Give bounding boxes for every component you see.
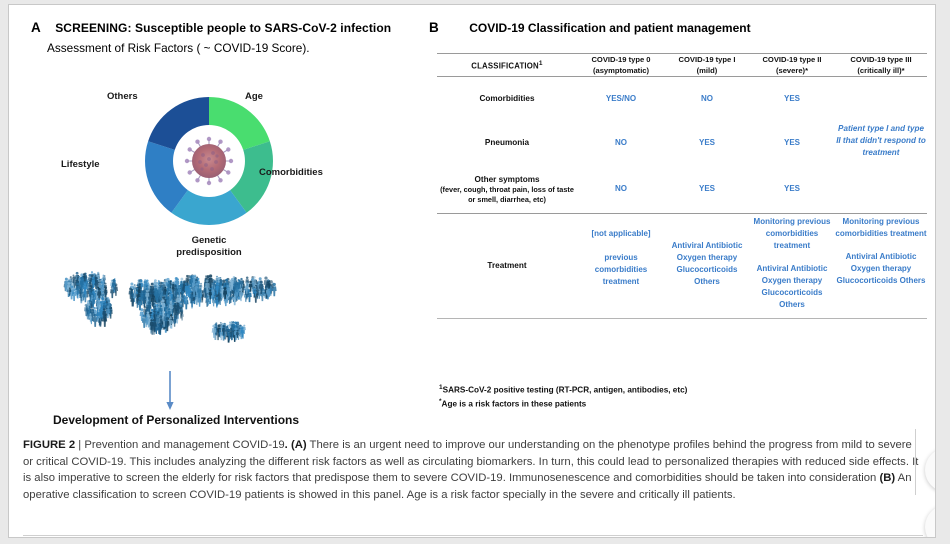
donut-label-lifestyle: Lifestyle [61,159,100,171]
donut-label-genetic-line2: predisposition [176,247,241,258]
expand-button[interactable] [925,448,936,492]
panel-a-header: A SCREENING: Susceptible people to SARS-… [31,19,391,55]
cell-treatment-type2: Monitoring previous comorbidities treatm… [749,214,835,318]
table-row: Comorbidities YES/NO NO YES Patient type… [437,77,927,121]
down-arrow-icon [163,371,177,411]
controls-divider [915,429,916,495]
cell-pneumonia-type2: YES [749,121,835,165]
table-header-type0: COVID-19 type 0 (asymptomatic) [577,54,665,76]
risk-factor-donut-chart: Age Comorbidities Genetic predisposition… [59,79,359,259]
panel-b-letter: B [429,20,439,35]
table-row-treatment: Treatment [not applicable] previous como… [437,214,927,318]
cell-treatment-type1: Antiviral Antibiotic Oxygen therapy Gluc… [665,214,749,318]
classification-table-body: Comorbidities YES/NO NO YES Patient type… [437,77,927,213]
development-interventions-label: Development of Personalized Intervention… [53,413,299,427]
panel-a-letter: A [31,20,41,35]
cell-treatment-type3: Monitoring previous comorbidities treatm… [835,214,927,318]
virus-icon [182,134,236,188]
figure-page: A SCREENING: Susceptible people to SARS-… [8,4,936,538]
panel-b-header: B COVID-19 Classification and patient ma… [429,19,751,37]
figure-caption: FIGURE 2 | Prevention and management COV… [23,437,923,503]
cell-other-symptoms-type3 [835,165,927,213]
panel-a-title: SCREENING: Susceptible people to SARS-Co… [55,21,391,35]
row-label-pneumonia: Pneumonia [437,121,577,165]
table-footnotes: 1SARS-CoV-2 positive testing (RT-PCR, an… [439,383,687,412]
caption-tag-a: (A) [291,439,307,451]
cell-pneumonia-type3: Patient type I and type II that didn't r… [835,77,927,165]
table-header-type3: COVID-19 type III (critically ill)* [835,54,927,76]
treatment-table: Treatment [not applicable] previous como… [437,214,927,318]
panel-a-subtitle: Assessment of Risk Factors ( ~ COVID-19 … [47,41,391,55]
cell-other-symptoms-type0: NO [577,165,665,213]
figure-image: A SCREENING: Susceptible people to SARS-… [9,5,936,429]
cell-comorbidities-type1: NO [665,77,749,121]
row-label-treatment: Treatment [437,214,577,318]
table-header-row: CLASSIFICATION1 COVID-19 type 0 (asympto… [437,54,927,76]
cell-pneumonia-type0: NO [577,121,665,165]
cell-treatment-type0: [not applicable] previous comorbidities … [577,214,665,318]
donut-label-genetic-line1: Genetic [192,235,227,246]
figure-label: FIGURE 2 [23,439,75,451]
classification-table: CLASSIFICATION1 COVID-19 type 0 (asympto… [437,53,927,319]
panel-b-title: COVID-19 Classification and patient mana… [469,21,750,35]
cell-other-symptoms-type1: YES [665,165,749,213]
panel-b: B COVID-19 Classification and patient ma… [427,11,933,429]
caption-title: Prevention and management COVID-19 [84,439,284,451]
row-label-comorbidities: Comorbidities [437,77,577,121]
row-label-other-symptoms-detail: (fever, cough, throat pain, loss of tast… [437,185,577,205]
donut-label-comorbidities: Comorbidities [259,167,323,179]
table-row: Other symptoms (fever, cough, throat pai… [437,165,927,213]
caption-divider [23,535,923,536]
cell-pneumonia-type1: YES [665,121,749,165]
row-label-other-symptoms: Other symptoms (fever, cough, throat pai… [437,165,577,213]
classification-table-grid: CLASSIFICATION1 COVID-19 type 0 (asympto… [437,54,927,76]
donut-label-genetic-predisposition: Genetic predisposition [169,235,249,259]
footnote-2: *Age is a risk factors in these patients [439,397,687,411]
footnote-1: 1SARS-CoV-2 positive testing (RT-PCR, an… [439,383,687,397]
donut-label-others: Others [107,91,138,103]
cell-comorbidities-type0: YES/NO [577,77,665,121]
world-map-crowd-illustration [51,263,321,367]
table-header-classification: CLASSIFICATION1 [437,54,577,76]
caption-tag-b: (B) [879,472,895,484]
cell-other-symptoms-type2: YES [749,165,835,213]
table-rule-bottom [437,318,927,319]
donut-label-age: Age [245,91,263,103]
zoom-in-button[interactable] [925,505,936,538]
cell-comorbidities-type2: YES [749,77,835,121]
panel-a: A SCREENING: Susceptible people to SARS-… [23,11,423,429]
caption-separator: | [78,439,81,451]
table-header-type2: COVID-19 type II (severe)* [749,54,835,76]
table-header-type1: COVID-19 type I (mild) [665,54,749,76]
